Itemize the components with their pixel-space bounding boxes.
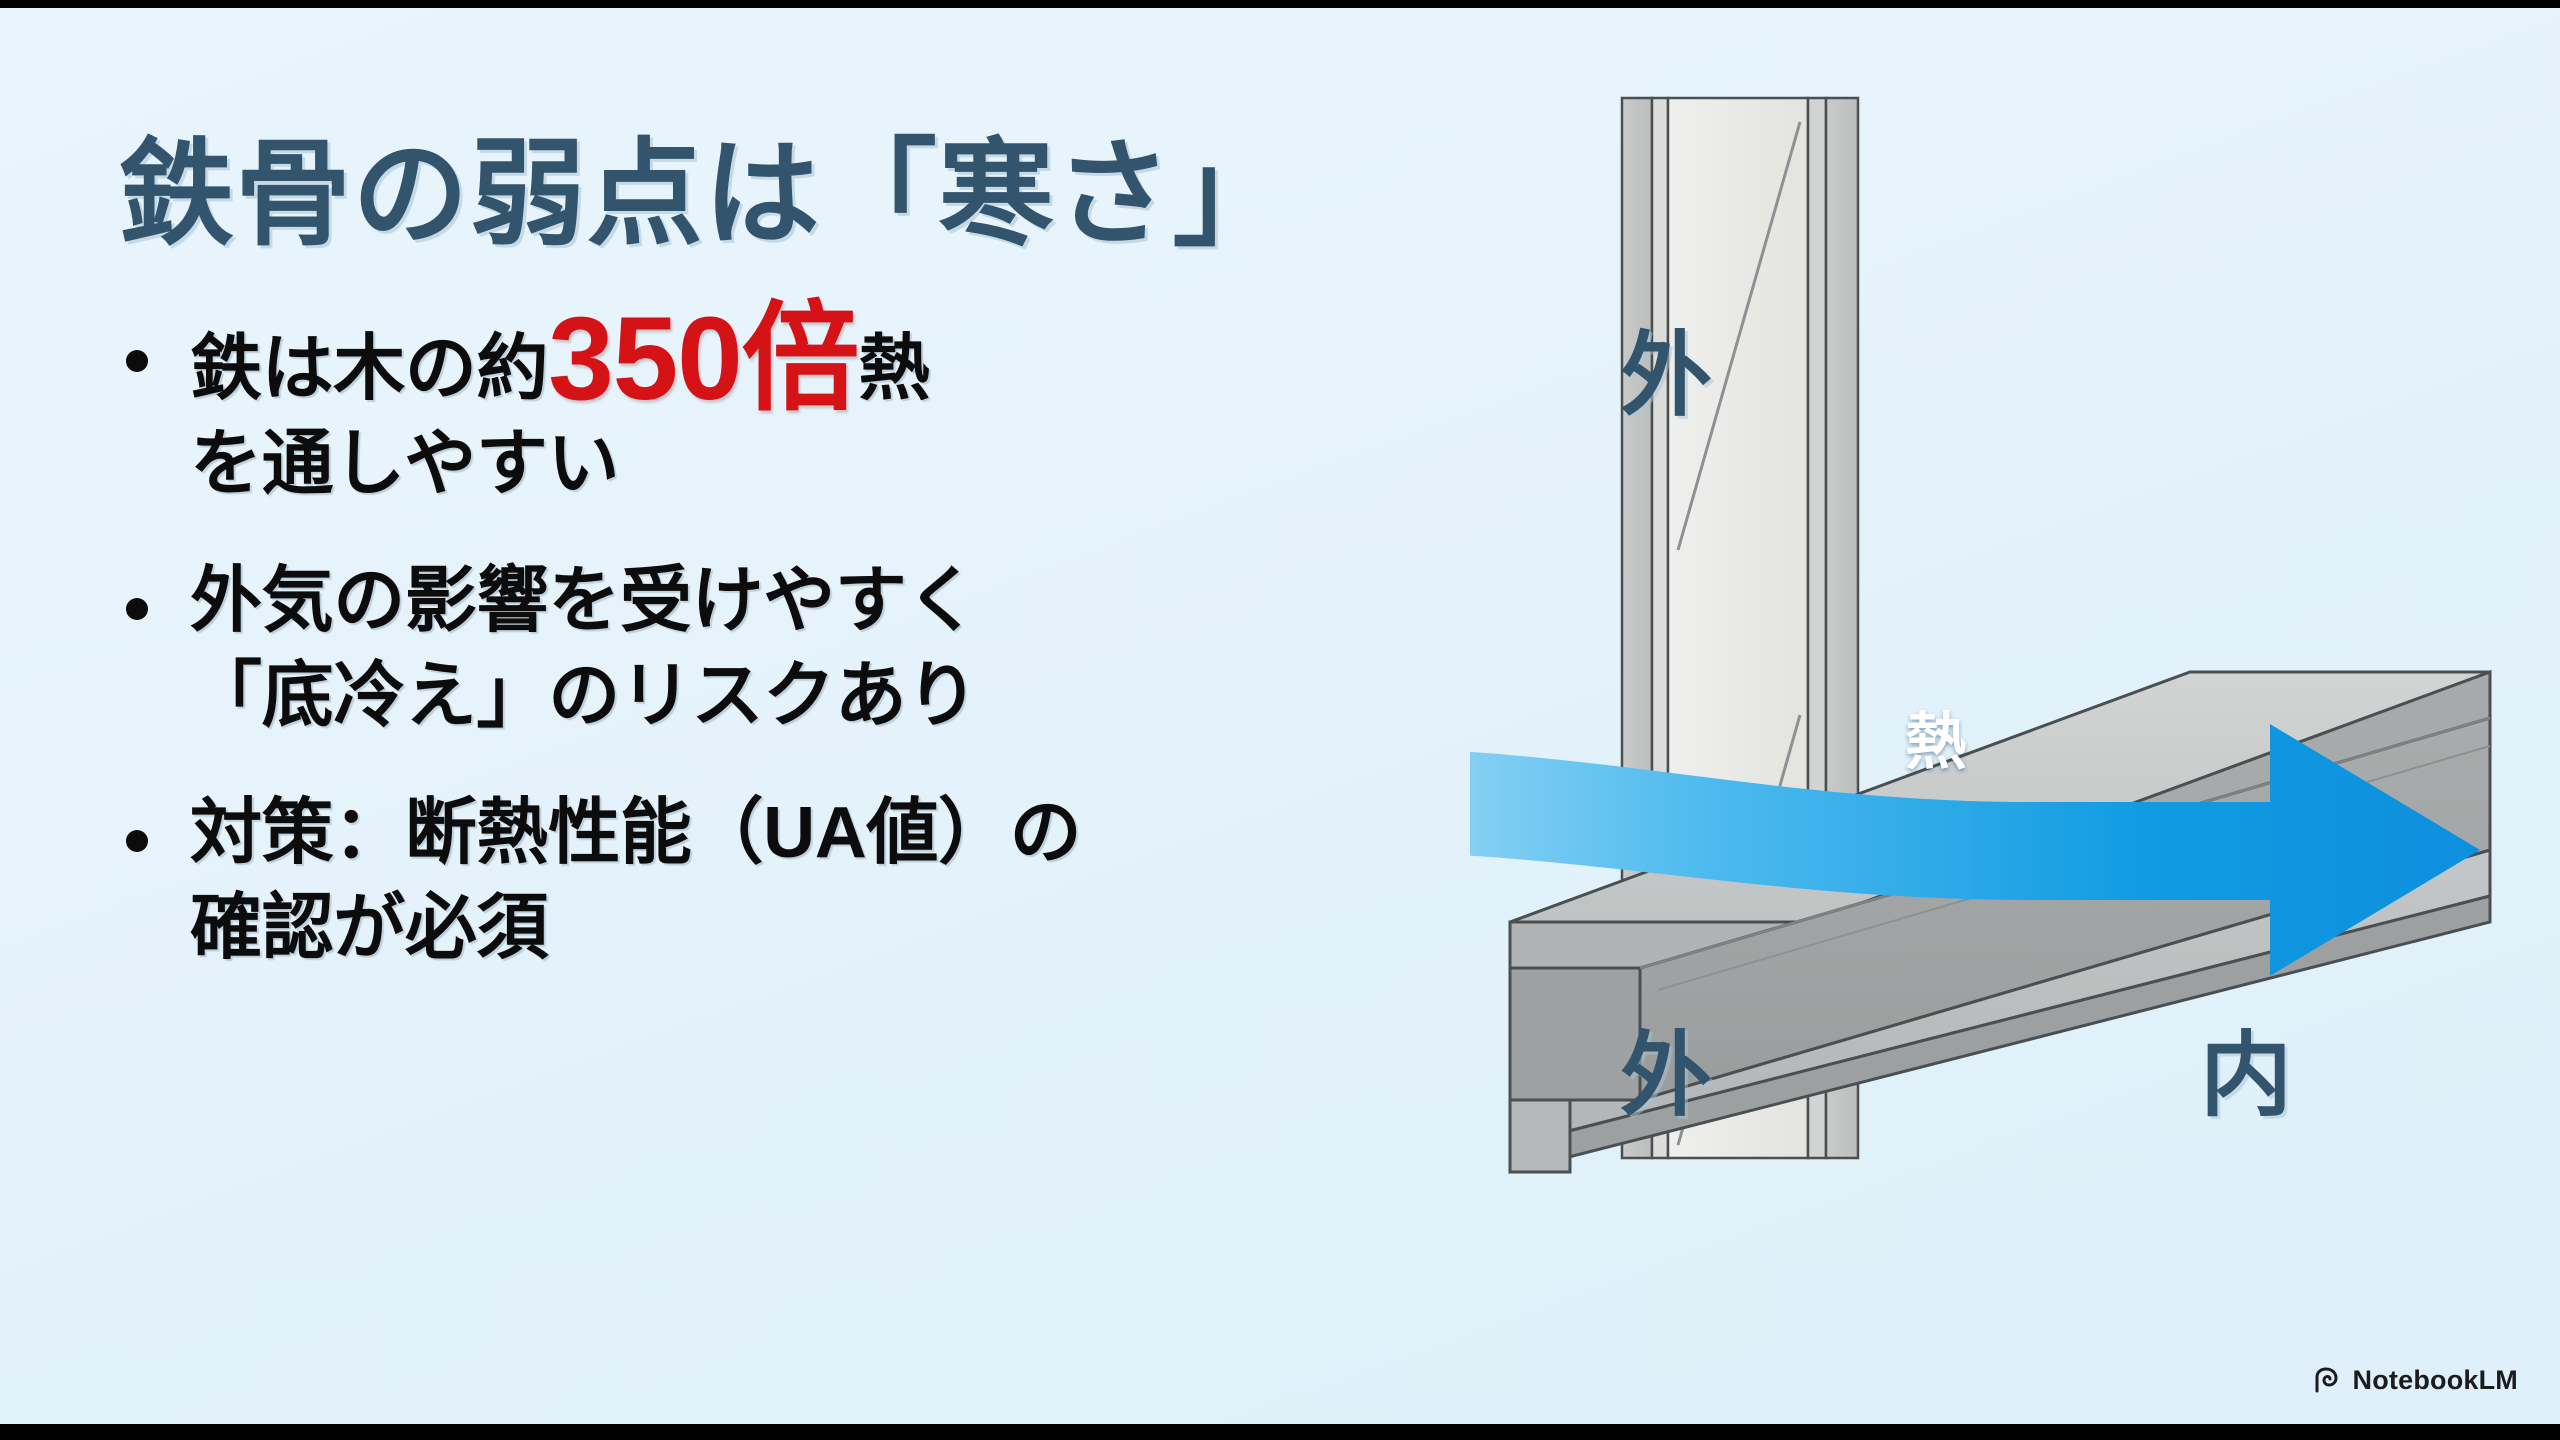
bullet-1-line-2: を通しやすい bbox=[190, 417, 1448, 512]
notebooklm-logo-icon bbox=[2313, 1367, 2343, 1395]
notebooklm-label: NotebookLM bbox=[2353, 1365, 2518, 1396]
illustration-svg bbox=[1470, 60, 2530, 1360]
page-title: 鉄骨の弱点は「寒さ」 bbox=[118, 130, 1448, 260]
bullet-1-text-pre: 鉄は木の約 bbox=[190, 329, 548, 409]
steel-beam-thermal-bridge-illustration bbox=[1470, 60, 2530, 1360]
bullet-dot-icon bbox=[126, 830, 148, 852]
label-outside-bottom: 外 bbox=[1620, 1030, 1712, 1122]
bullet-list: 鉄は木の約350倍熱 を通しやすい 外気の影響を受けやすく 「底冷え」のリスクあ… bbox=[118, 306, 1448, 976]
label-outside-top: 外 bbox=[1620, 330, 1712, 422]
bullet-2-line-2: 「底冷え」のリスクあり bbox=[190, 649, 1448, 744]
list-item: 外気の影響を受けやすく 「底冷え」のリスクあり bbox=[118, 554, 1448, 744]
list-item: 鉄は木の約350倍熱 を通しやすい bbox=[118, 306, 1448, 512]
bullet-1-line-1: 鉄は木の約350倍熱 bbox=[190, 306, 1448, 417]
bullet-1-text-post: 熱 bbox=[858, 329, 930, 409]
label-inside: 内 bbox=[2200, 1030, 2292, 1122]
bullet-dot-icon bbox=[126, 598, 148, 620]
slide-root: 鉄骨の弱点は「寒さ」 鉄は木の約350倍熱 を通しやすい 外気の影響を受けやすく… bbox=[0, 0, 2560, 1440]
bullet-3-line-1: 対策：断熱性能（UA値）の bbox=[190, 786, 1448, 881]
heat-label: 熱 bbox=[1905, 712, 1967, 774]
bullet-1-emphasis: 350倍 bbox=[548, 293, 858, 425]
letterbox-top bbox=[0, 0, 2560, 8]
bullet-dot-icon bbox=[126, 350, 148, 372]
bullet-2-line-1: 外気の影響を受けやすく bbox=[190, 554, 1448, 649]
notebooklm-watermark: NotebookLM bbox=[2313, 1365, 2518, 1396]
list-item: 対策：断熱性能（UA値）の 確認が必須 bbox=[118, 786, 1448, 976]
text-column: 鉄骨の弱点は「寒さ」 鉄は木の約350倍熱 を通しやすい 外気の影響を受けやすく… bbox=[118, 130, 1448, 976]
letterbox-bottom bbox=[0, 1424, 2560, 1440]
bullet-3-line-2: 確認が必須 bbox=[190, 881, 1448, 976]
